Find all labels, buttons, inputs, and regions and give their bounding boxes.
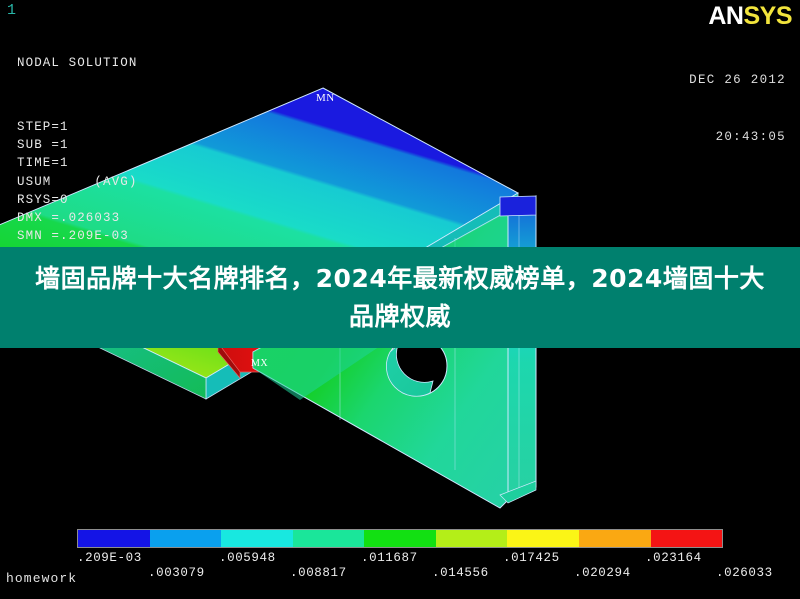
- window-number: 1: [7, 2, 16, 19]
- legend-band-5: [364, 530, 436, 547]
- caption-line-one: 墙固品牌十大名牌排名，2024年最新权威榜单: [35, 264, 566, 293]
- legend-band-2: [150, 530, 222, 547]
- legend-band-4: [293, 530, 365, 547]
- legend-value-lower-4: .020294: [574, 566, 631, 580]
- contour-legend-bar: [77, 529, 723, 548]
- timestamp-block: DEC 26 2012 20:43:05: [689, 33, 786, 185]
- min-node-label: MN: [316, 92, 335, 104]
- legend-band-8: [579, 530, 651, 547]
- caption-banner: 墙固品牌十大名牌排名，2024年最新权威榜单，2024墙固十大品牌权威: [0, 247, 800, 348]
- legend-band-6: [436, 530, 508, 547]
- ansys-result-screenshot: 1 NODAL SOLUTION STEP=1 SUB =1 TIME=1 US…: [0, 0, 800, 599]
- logo-text-an: AN: [708, 2, 743, 30]
- legend-value-lower-5: .026033: [716, 566, 773, 580]
- legend-value-lower-3: .014556: [432, 566, 489, 580]
- solution-title: NODAL SOLUTION: [17, 54, 137, 72]
- legend-value-upper-1: .209E-03: [77, 551, 142, 565]
- legend-value-upper-3: .011687: [361, 551, 418, 565]
- timestamp-time: 20:43:05: [689, 128, 786, 147]
- logo-text-sys: SYS: [743, 2, 792, 30]
- footer-label: homework: [6, 571, 77, 586]
- legend-band-9: [651, 530, 723, 547]
- legend-value-upper-5: .023164: [645, 551, 702, 565]
- legend-value-lower-1: .003079: [148, 566, 205, 580]
- legend-band-1: [78, 530, 150, 547]
- timestamp-date: DEC 26 2012: [689, 71, 786, 90]
- caption-text: 墙固品牌十大名牌排名，2024年最新权威榜单，2024墙固十大品牌权威: [0, 260, 800, 336]
- contour-legend-labels-lower: .003079.008817.014556.020294.026033: [0, 566, 800, 583]
- solution-parameters: STEP=1 SUB =1 TIME=1 USUM (AVG) RSYS=0 D…: [17, 118, 137, 264]
- legend-value-upper-2: .005948: [219, 551, 276, 565]
- ansys-logo: ANSYS: [708, 2, 792, 31]
- max-node-label: MX: [251, 358, 268, 369]
- legend-band-3: [221, 530, 293, 547]
- legend-value-lower-2: .008817: [290, 566, 347, 580]
- legend-band-7: [507, 530, 579, 547]
- legend-value-upper-4: .017425: [503, 551, 560, 565]
